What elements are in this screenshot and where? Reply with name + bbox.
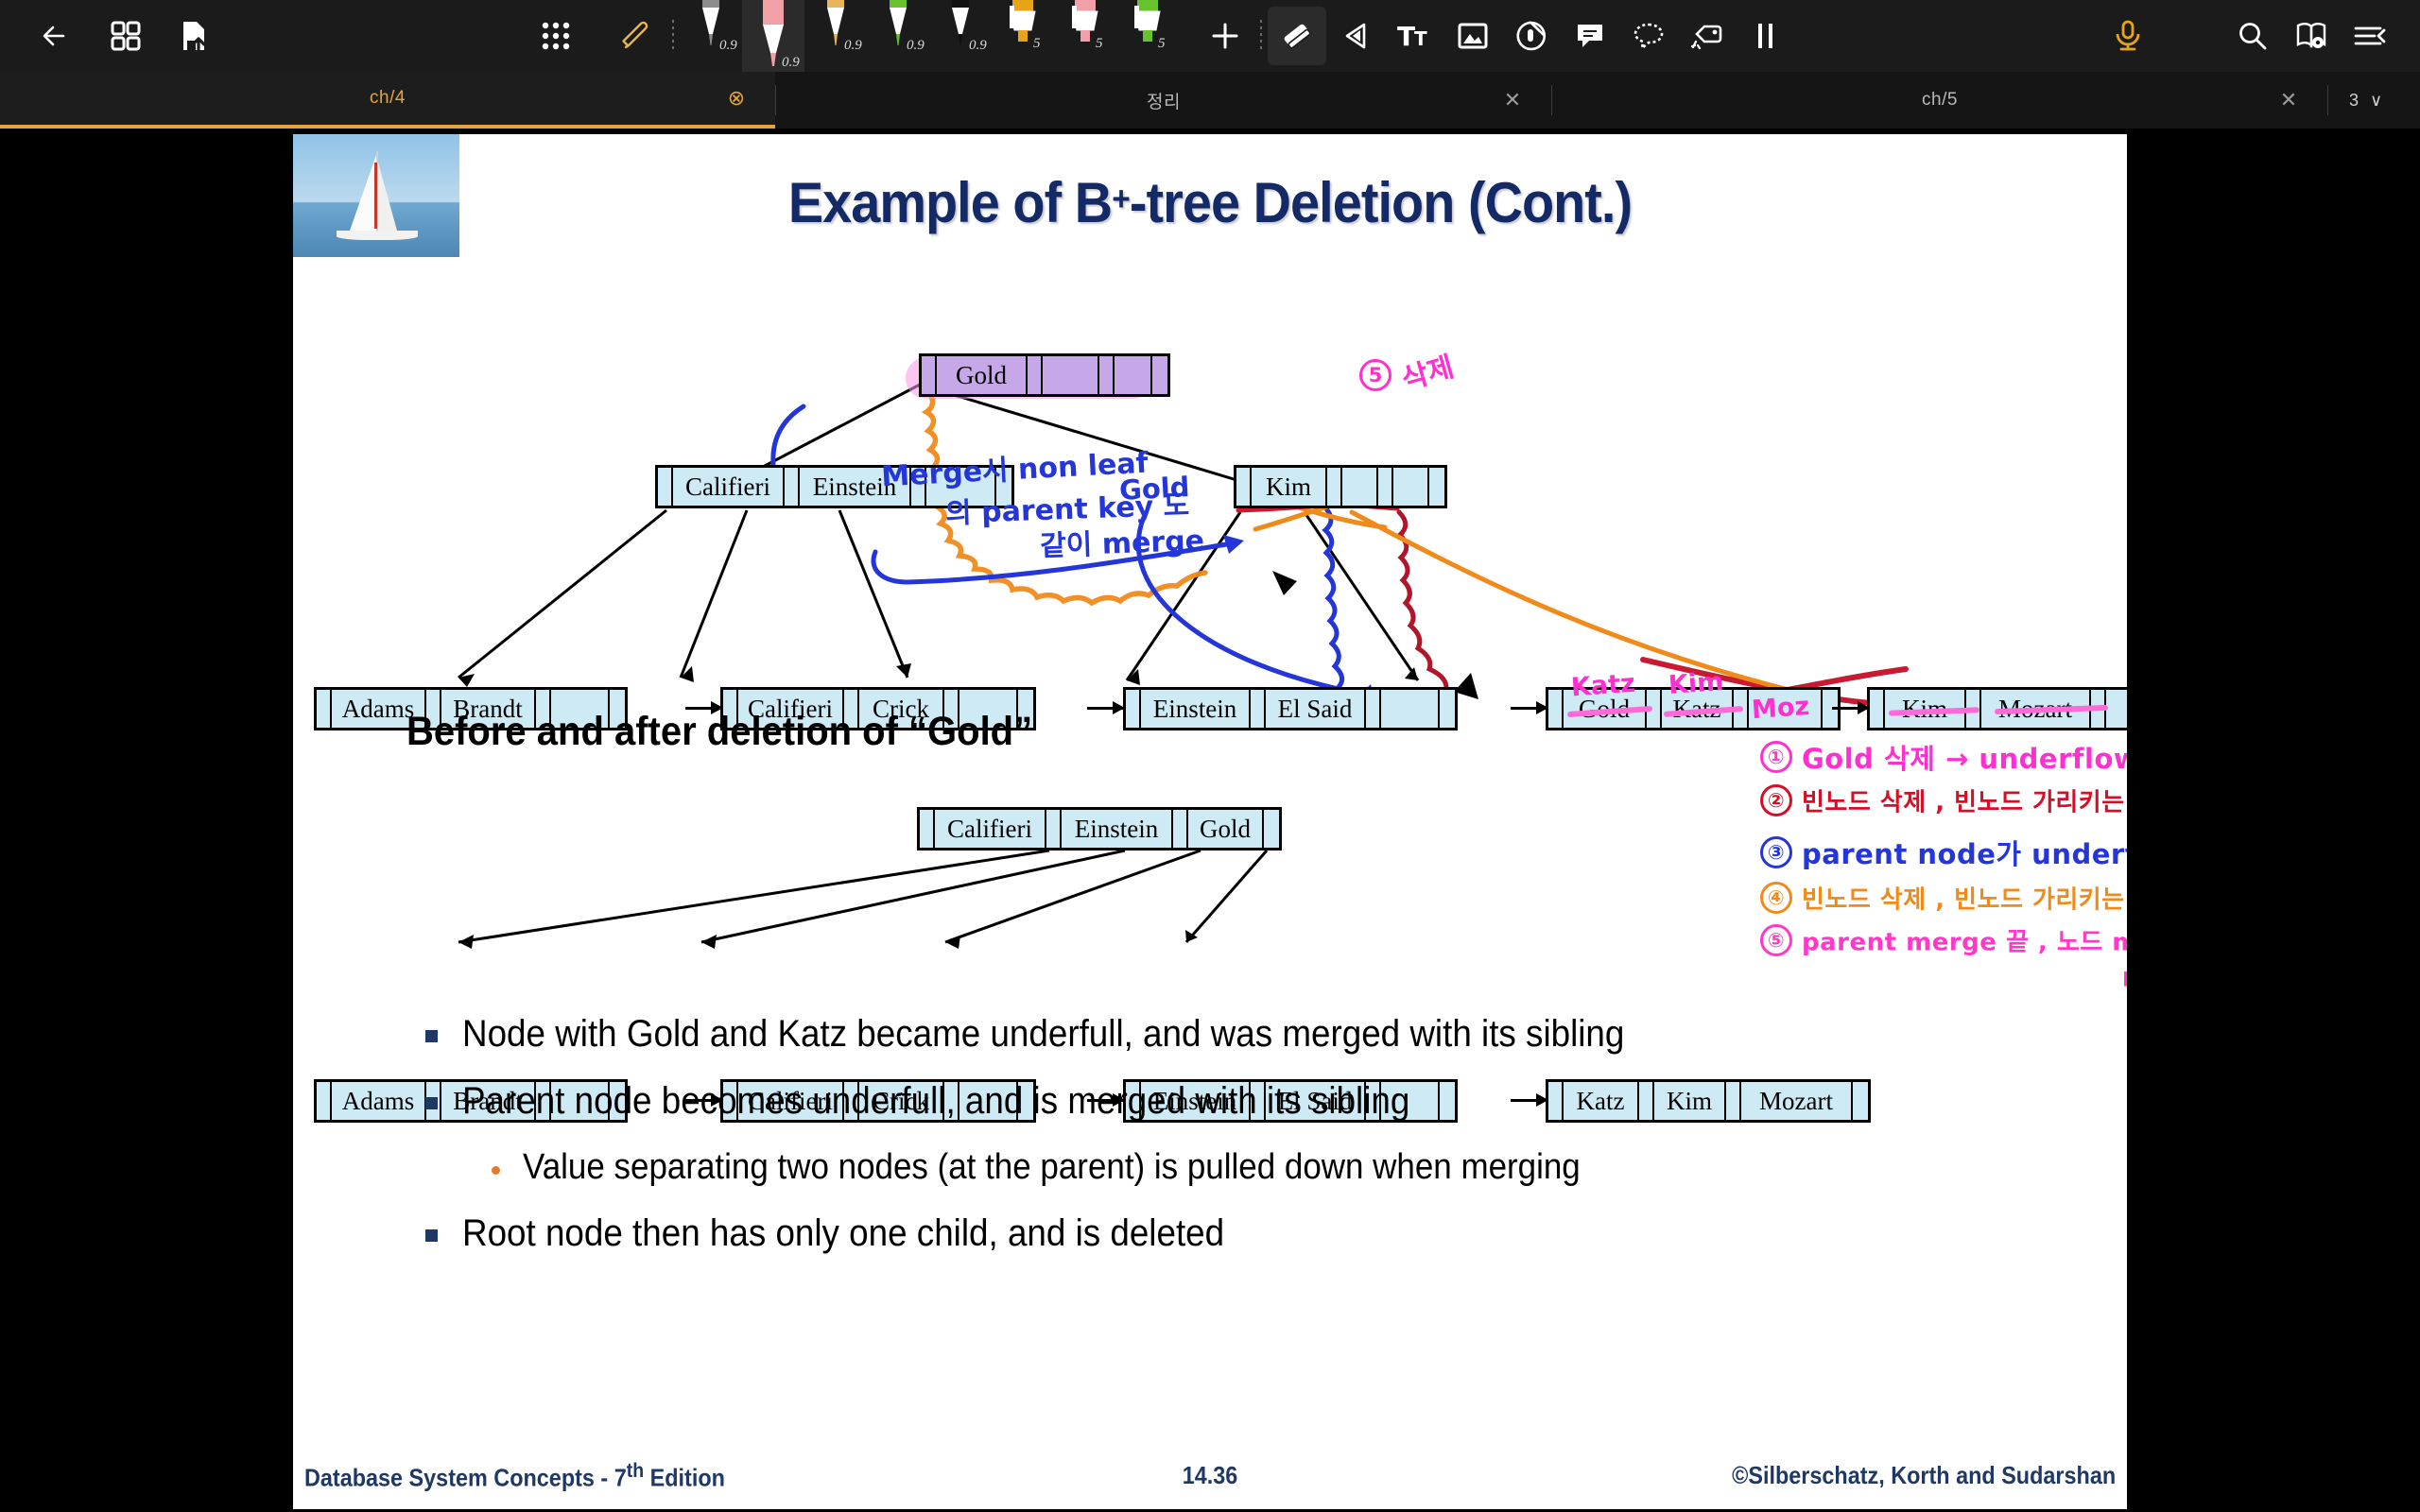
bullet-item-1: Node with Gold and Katz became underfull… (425, 1013, 2080, 1056)
tab-jeongri-close-icon[interactable]: ✕ (1498, 86, 1527, 114)
magic-tag-icon[interactable] (1678, 7, 1737, 65)
ink-root-badge: 5삭제 (1359, 350, 1453, 391)
node-pointer (1236, 468, 1252, 506)
pen-gold[interactable]: 0.9 (804, 0, 867, 72)
slide-canvas[interactable]: Example of B+-tree Deletion (Cont.) (293, 134, 2127, 1509)
leaf-node-3-before[interactable]: Einstein El Said (1123, 687, 1458, 730)
ink-step-2-num: ② (1760, 784, 1792, 816)
root-node-before[interactable]: Gold (919, 353, 1170, 397)
ink-root-badge-text: 삭제 (1396, 343, 1458, 398)
collapse-panel-icon[interactable] (2341, 7, 2399, 65)
tab-jeongri-label: 정리 (1147, 88, 1181, 113)
ink-step-3: ③parent node가 underflow (merge) (1760, 833, 2127, 872)
tab-overflow-count: 3 (2349, 91, 2359, 111)
node-pointer (1028, 356, 1043, 394)
tab-ch4-close-icon[interactable]: ⊗ (722, 84, 751, 112)
node-pointer (317, 690, 332, 728)
bullet-list: Node with Gold and Katz became underfull… (425, 1013, 2080, 1280)
bullet-marker-square (425, 1097, 438, 1109)
tab-ch5[interactable]: ch/5 ✕ (1552, 72, 2327, 129)
footer-left-sup: th (627, 1458, 644, 1482)
after-root-key-2: Gold (1188, 810, 1264, 848)
export-file-icon[interactable] (164, 7, 223, 65)
tab-ch5-label: ch/5 (1922, 90, 1958, 111)
tab-ch4-label: ch/4 (370, 88, 406, 109)
bullet-text-3: Value separating two nodes (at the paren… (523, 1147, 1581, 1188)
chevron-down-icon[interactable]: ∨ (2370, 91, 2382, 111)
bullet-text-4: Root node then has only one child, and i… (462, 1212, 1224, 1255)
add-pen-icon[interactable] (1196, 7, 1254, 65)
pen-gray-size: 0.9 (719, 38, 737, 54)
root-key-2 (1115, 356, 1152, 394)
leaf3-key-1: El Said (1266, 690, 1366, 728)
highlighter-pink-size: 5 (1096, 36, 1103, 52)
highlighter-pink[interactable]: 5 (1054, 0, 1116, 72)
node-pointer (1440, 690, 1455, 728)
book-settings-icon[interactable] (2282, 7, 2341, 65)
page-title-main: Example of B (788, 171, 1112, 234)
tab-overflow[interactable]: 3 ∨ (2328, 72, 2403, 129)
bullet-item-3: Value separating two nodes (at the paren… (492, 1147, 2080, 1188)
ink-step-4-num: ④ (1760, 882, 1792, 914)
ink-leaf-moz: Moz (1751, 692, 1810, 725)
grid-view-icon[interactable] (96, 7, 155, 65)
node-pointer (1126, 690, 1141, 728)
search-icon[interactable] (2223, 7, 2282, 65)
node-pointer (1366, 690, 1381, 728)
node-pointer (1548, 690, 1564, 728)
internal-right-key-1 (1342, 468, 1378, 506)
tab-ch5-close-icon[interactable]: ✕ (2274, 86, 2303, 114)
page-title-sup: + (1112, 179, 1130, 217)
tab-jeongri[interactable]: 정리 ✕ (776, 72, 1551, 129)
ink-leaf-kim: Kim (1668, 667, 1724, 700)
highlighter-green-size: 5 (1158, 36, 1166, 52)
pen-black[interactable]: 0.9 (929, 0, 992, 72)
footer-left: Database System Concepts - 7th Edition (304, 1458, 725, 1493)
microphone-icon[interactable] (2099, 7, 2157, 65)
ink-step-5: ⑤parent merge 끝 , 노드 merge 끝 , Root 자식수 … (1760, 922, 2127, 958)
node-pointer (1251, 690, 1266, 728)
pen-green[interactable]: 0.9 (867, 0, 929, 72)
node-pointer (1152, 356, 1167, 394)
ink-blue-note-line3: 같이 merge (1039, 517, 1204, 564)
toolbar-divider-1 (672, 20, 674, 52)
node-pointer (1046, 810, 1062, 848)
svg-text:T: T (1414, 27, 1427, 50)
leaf-link-arrow-3 (1511, 707, 1547, 710)
top-toolbar: 0.9 0.9 0.9 0.9 (0, 0, 2420, 72)
node-pointer (317, 1082, 332, 1120)
leaf-link-arrow-4 (1832, 707, 1868, 710)
ink-step-3-text: parent node가 underflow (merge) (1802, 838, 2127, 870)
footer-copyright: ©Silberschatz, Korth and Sudarshan (1732, 1461, 2116, 1490)
slide-footer: Database System Concepts - 7th Edition 1… (293, 1456, 2127, 1494)
back-arrow-icon[interactable] (25, 7, 83, 65)
node-pointer (658, 468, 673, 506)
tab-ch4[interactable]: ch/4 ⊗ (0, 72, 775, 129)
ink-step-5-num: ⑤ (1760, 924, 1792, 956)
insert-image-icon[interactable] (1443, 7, 1502, 65)
highlighter-orange-size: 5 (1033, 36, 1041, 52)
pen-green-size: 0.9 (907, 38, 925, 54)
ink-step-5-text: parent merge 끝 , 노드 merge 끝 , Root 자식수 한… (1802, 929, 2127, 957)
node-pointer (1264, 810, 1279, 848)
pause-icon[interactable] (1737, 7, 1795, 65)
internal-right-key-0: Kim (1252, 468, 1327, 506)
footer-left-rest: Edition (644, 1463, 725, 1491)
sticker-icon[interactable] (1502, 7, 1561, 65)
tab-bar: ch/4 ⊗ 정리 ✕ ch/5 ✕ 3 ∨ (0, 72, 2420, 129)
node-pointer (1378, 468, 1393, 506)
speech-bubble-icon[interactable] (1619, 7, 1678, 65)
caption-before-after: Before and after deletion of “Gold” (406, 709, 1032, 755)
ink-step-1-text: Gold 삭제 → underflow (merge) (1802, 743, 2127, 775)
ink-root-badge-number: 5 (1359, 359, 1391, 391)
ink-step-1-num: ① (1760, 741, 1792, 773)
bullet-marker-square (425, 1229, 438, 1242)
node-pointer (922, 356, 937, 394)
ink-step-2-text: 빈노드 삭제 , 빈노드 가리키는 에 삭제 (pointer에 key (1802, 789, 2127, 817)
after-root-key-1: Einstein (1062, 810, 1173, 848)
leaf3-key-0: Einstein (1141, 690, 1251, 728)
leaf3-key-2 (1381, 690, 1440, 728)
ink-leaf-katz: Katz (1570, 669, 1636, 703)
ink-step-1: ①Gold 삭제 → underflow (merge) (1760, 737, 2127, 777)
apps-grid-icon[interactable] (527, 7, 585, 65)
text-tool-icon[interactable]: T T (1385, 7, 1443, 65)
node-pointer (1099, 356, 1115, 394)
after-leaf1-key-0: Adams (332, 1082, 426, 1120)
node-pointer (1870, 690, 1885, 728)
page-title-rest: -tree Deletion (Cont.) (1130, 171, 1632, 234)
ink-step-3-num: ③ (1760, 836, 1792, 868)
highlighter-green[interactable]: 5 (1116, 0, 1179, 72)
root-key-0: Gold (937, 356, 1028, 394)
ink-step-2: ②빈노드 삭제 , 빈노드 가리키는 에 삭제 (pointer에 key (1760, 782, 2127, 818)
lasso-select-icon[interactable] (1326, 7, 1385, 65)
pen-icon[interactable] (608, 7, 666, 65)
node-pointer (1327, 468, 1342, 506)
root-key-1 (1043, 356, 1099, 394)
pen-pink-size: 0.9 (782, 55, 800, 71)
internal-node-right-before[interactable]: Kim (1234, 465, 1447, 508)
footer-page-number: 14.36 (1183, 1461, 1238, 1490)
bullet-marker-square (425, 1030, 438, 1042)
page-title: Example of B+-tree Deletion (Cont.) (357, 170, 2063, 235)
app-root: 0.9 0.9 0.9 0.9 (0, 0, 2420, 1512)
internal-right-key-2 (1393, 468, 1429, 506)
eraser-icon[interactable] (1268, 7, 1326, 65)
bullet-text-2: Parent node becomes underfull, and is me… (462, 1080, 1409, 1123)
toolbar-divider-2 (1260, 20, 1262, 52)
internal-left-key-0: Califieri (673, 468, 785, 506)
highlighter-orange[interactable]: 5 (992, 0, 1054, 72)
bullet-item-4: Root node then has only one child, and i… (425, 1212, 2080, 1255)
leaf-link-arrow-2 (1087, 707, 1123, 710)
leaf5-key-2 (2106, 690, 2127, 728)
node-pointer (920, 810, 935, 848)
pen-black-size: 0.9 (969, 38, 987, 54)
node-pointer (785, 468, 800, 506)
ink-step-4-text: 빈노드 삭제 , 빈노드 가리키는 에 삭제 (1802, 885, 2127, 914)
pen-gold-size: 0.9 (844, 38, 862, 54)
node-pointer (1429, 468, 1444, 506)
pen-gray[interactable]: 0.9 (680, 0, 742, 72)
note-comment-icon[interactable] (1561, 7, 1619, 65)
node-pointer (1173, 810, 1188, 848)
ink-step-4: ④빈노드 삭제 , 빈노드 가리키는 에 삭제 (1760, 880, 2127, 916)
pen-pink[interactable]: 0.9 (742, 0, 804, 72)
svg-text:T: T (1397, 22, 1415, 50)
after-root-key-0: Califieri (935, 810, 1046, 848)
bullet-text-1: Node with Gold and Katz became underfull… (462, 1013, 1624, 1056)
root-node-after[interactable]: Califieri Einstein Gold (917, 807, 1282, 850)
bullet-item-2: Parent node becomes underfull, and is me… (425, 1080, 2080, 1123)
bullet-marker-dot (492, 1166, 500, 1175)
ink-steps-list: ①Gold 삭제 → underflow (merge) ②빈노드 삭제 , 빈… (1760, 737, 2127, 997)
footer-left-text: Database System Concepts - 7 (304, 1463, 627, 1491)
ink-step-5-cont: ↳ Root 삭제 (2119, 962, 2127, 997)
